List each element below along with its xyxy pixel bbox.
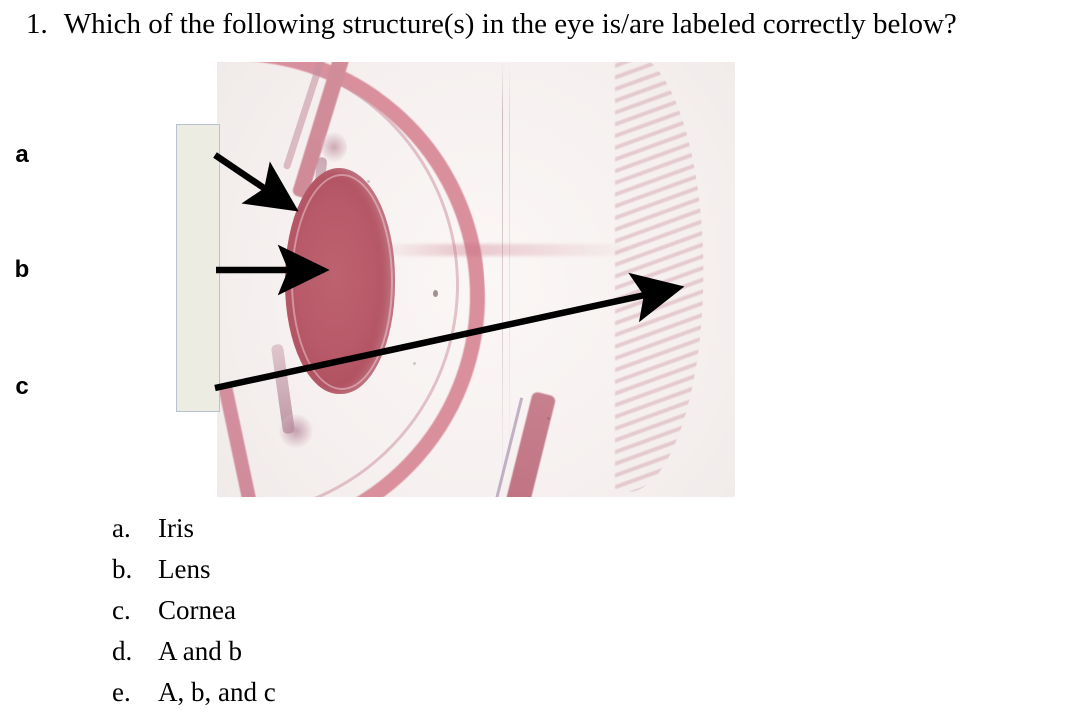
answer-option-c[interactable]: c. Cornea bbox=[112, 590, 612, 631]
lens-capsule-ring bbox=[291, 174, 393, 390]
tissue-speck bbox=[433, 290, 438, 297]
tissue-speck bbox=[367, 180, 370, 183]
figure-label-c: c bbox=[0, 375, 44, 399]
answer-option-d[interactable]: d. A and b bbox=[112, 631, 612, 672]
answer-option-b-letter: b. bbox=[112, 549, 158, 590]
answer-options-list: a. Iris b. Lens c. Cornea d. A and b e. … bbox=[112, 508, 612, 713]
eye-histology-image bbox=[217, 62, 735, 497]
answer-option-e-text: A, b, and c bbox=[158, 672, 612, 713]
ciliary-body-lower bbox=[279, 414, 313, 448]
figure-label-a: a bbox=[0, 143, 44, 167]
answer-option-d-text: A and b bbox=[158, 631, 612, 672]
tissue-speck bbox=[547, 417, 550, 420]
answer-option-c-letter: c. bbox=[112, 590, 158, 631]
answer-option-b[interactable]: b. Lens bbox=[112, 549, 612, 590]
answer-option-a-text: Iris bbox=[158, 508, 612, 549]
answer-option-d-letter: d. bbox=[112, 631, 158, 672]
section-crack-line bbox=[509, 62, 510, 497]
answer-option-c-text: Cornea bbox=[158, 590, 612, 631]
tissue-speck bbox=[413, 362, 416, 365]
answer-option-e[interactable]: e. A, b, and c bbox=[112, 672, 612, 713]
section-crack-line bbox=[502, 62, 503, 497]
answer-option-a[interactable]: a. Iris bbox=[112, 508, 612, 549]
ciliary-body-upper bbox=[321, 132, 347, 162]
answer-option-a-letter: a. bbox=[112, 508, 158, 549]
answer-option-b-text: Lens bbox=[158, 549, 612, 590]
figure-label-b: b bbox=[0, 258, 44, 282]
label-legend-box bbox=[176, 124, 220, 412]
figure-area: a b c bbox=[0, 0, 1080, 500]
answer-option-e-letter: e. bbox=[112, 672, 158, 713]
staining-artifact-band bbox=[377, 244, 637, 256]
